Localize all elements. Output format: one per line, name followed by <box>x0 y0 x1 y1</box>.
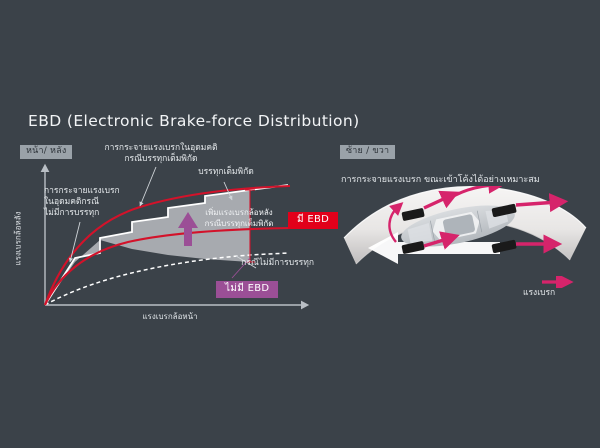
axis-label-x: แรงเบรกล้อหน้า <box>110 310 230 323</box>
annotation-increase-rear-force: เพิ่มแรงเบรกล้อหลัง กรณีบรรทุกเต็มพิกัด <box>196 208 282 229</box>
chip-with-ebd: มี EBD <box>288 212 338 229</box>
legend-arrow-icon <box>540 276 574 288</box>
infographic-canvas: EBD (Electronic Brake-force Distribution… <box>0 0 600 448</box>
annotation-full-load: บรรทุกเต็มพิกัด <box>178 167 274 178</box>
axis-label-y: แรงเบรกล้อหลัง <box>12 199 25 279</box>
chip-without-ebd: ไม่มี EBD <box>216 281 278 298</box>
brake-distribution-chart <box>0 0 340 340</box>
annotation-ideal-unloaded: การกระจายแรงเบรก ในอุดมคติกรณี ไม่มีการบ… <box>44 186 130 219</box>
legend-label-brake-force: แรงเบรก <box>523 288 593 299</box>
annotation-no-load: กรณีไม่มีการบรรทุก <box>214 258 314 269</box>
badge-left-right: ซ้าย / ขวา <box>340 145 395 159</box>
annotation-ideal-loaded: การกระจายแรงเบรกในอุดมคติ กรณีบรรทุกเต็ม… <box>86 143 236 165</box>
annotation-cornering-description: การกระจายแรงเบรก ขณะเข้าโค้งได้อย่างเหมา… <box>341 175 581 186</box>
